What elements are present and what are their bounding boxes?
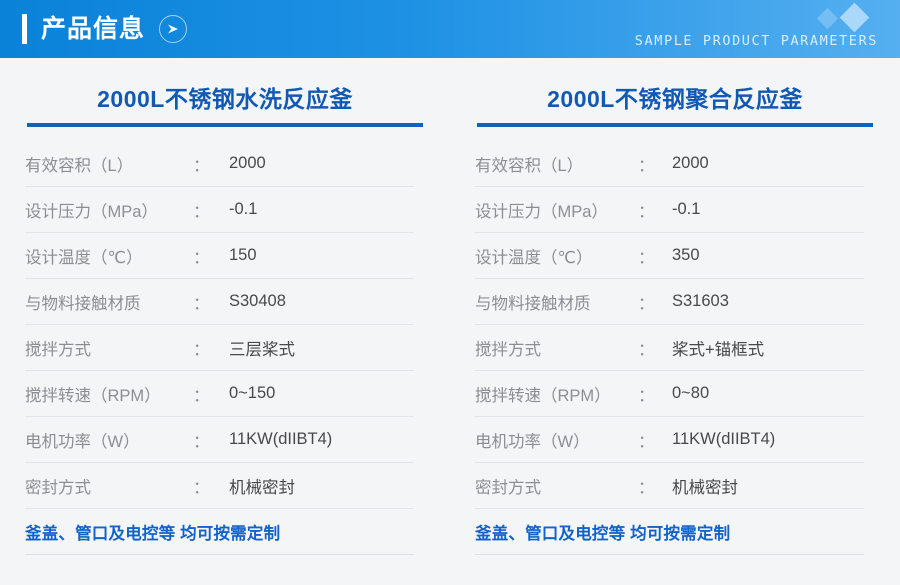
spec-colon: ： [638,382,654,406]
spec-label: 与物料接触材质 [25,290,193,314]
spec-label: 搅拌转速（RPM） [475,382,638,406]
page-header: 产品信息 SAMPLE PRODUCT PARAMETERS [0,0,900,58]
spec-value: -0.1 [654,200,864,219]
spec-value: 150 [209,246,414,265]
header-accent-bar [22,14,27,44]
spec-value: 350 [654,246,864,265]
customization-note: 釜盖、管口及电控等 均可按需定制 [25,520,280,544]
spec-label: 密封方式 [475,474,638,498]
spec-value: 桨式+锚框式 [654,336,864,360]
table-row: 设计压力（MPa） ： -0.1 [475,187,864,233]
table-row: 搅拌转速（RPM） ： 0~150 [25,371,414,417]
header-title-group: 产品信息 [22,0,187,58]
spec-value: 2000 [209,154,414,173]
spec-value: 三层桨式 [209,336,414,360]
spec-value: -0.1 [209,200,414,219]
table-row: 与物料接触材质 ： S31603 [475,279,864,325]
spec-colon: ： [193,244,209,268]
spec-label: 有效容积（L） [475,152,638,176]
table-row: 有效容积（L） ： 2000 [475,141,864,187]
customization-note-row-left: 釜盖、管口及电控等 均可按需定制 [25,509,414,555]
spec-colon: ： [638,474,654,498]
spec-panels-container: 2000L不锈钢水洗反应釜 有效容积（L） ： 2000 设计压力（MPa） ：… [0,58,900,585]
table-row: 搅拌转速（RPM） ： 0~80 [475,371,864,417]
spec-label: 搅拌方式 [25,336,193,360]
diamond-large-icon [840,3,870,33]
spec-table-left: 有效容积（L） ： 2000 设计压力（MPa） ： -0.1 设计温度（℃） … [25,141,414,555]
table-row: 电机功率（W） ： 11KW(dIIBT4) [25,417,414,463]
spec-colon: ： [193,336,209,360]
spec-table-right: 有效容积（L） ： 2000 设计压力（MPa） ： -0.1 设计温度（℃） … [475,141,864,555]
table-row: 搅拌方式 ： 三层桨式 [25,325,414,371]
spec-label: 搅拌方式 [475,336,638,360]
spec-value: 2000 [654,154,864,173]
spec-value: 0~150 [209,384,414,403]
table-row: 与物料接触材质 ： S30408 [25,279,414,325]
spec-value: 11KW(dIIBT4) [209,430,414,449]
spec-colon: ： [193,290,209,314]
spec-colon: ： [193,474,209,498]
customization-note: 釜盖、管口及电控等 均可按需定制 [475,520,730,544]
spec-label: 设计压力（MPa） [25,198,193,222]
spec-label: 搅拌转速（RPM） [25,382,193,406]
spec-colon: ： [638,290,654,314]
spec-colon: ： [638,244,654,268]
spec-colon: ： [638,336,654,360]
spec-colon: ： [193,198,209,222]
spec-label: 与物料接触材质 [475,290,638,314]
spec-panel-right: 2000L不锈钢聚合反应釜 有效容积（L） ： 2000 设计压力（MPa） ：… [450,58,900,585]
panel-title-right: 2000L不锈钢聚合反应釜 [475,88,875,123]
spec-colon: ： [638,152,654,176]
spec-value: S30408 [209,292,414,311]
spec-colon: ： [193,382,209,406]
spec-label: 电机功率（W） [475,428,638,452]
spec-label: 设计温度（℃） [25,244,193,268]
spec-label: 有效容积（L） [25,152,193,176]
panel-title-underline-left [27,123,423,127]
spec-value: 机械密封 [654,474,864,498]
spec-value: S31603 [654,292,864,311]
table-row: 密封方式 ： 机械密封 [475,463,864,509]
table-row: 设计温度（℃） ： 350 [475,233,864,279]
table-row: 设计压力（MPa） ： -0.1 [25,187,414,233]
diamond-small-icon [817,8,838,29]
table-row: 搅拌方式 ： 桨式+锚框式 [475,325,864,371]
spec-value: 11KW(dIIBT4) [654,430,864,449]
spec-colon: ： [193,152,209,176]
spec-label: 设计温度（℃） [475,244,638,268]
spec-label: 电机功率（W） [25,428,193,452]
panel-title-underline-right [477,123,873,127]
customization-note-row-right: 釜盖、管口及电控等 均可按需定制 [475,509,864,555]
spec-colon: ： [193,428,209,452]
spec-value: 0~80 [654,384,864,403]
spec-value: 机械密封 [209,474,414,498]
table-row: 设计温度（℃） ： 150 [25,233,414,279]
panel-title-left: 2000L不锈钢水洗反应釜 [25,88,425,123]
table-row: 电机功率（W） ： 11KW(dIIBT4) [475,417,864,463]
play-arrow-circle-icon[interactable] [159,15,187,43]
table-row: 密封方式 ： 机械密封 [25,463,414,509]
spec-label: 设计压力（MPa） [475,198,638,222]
table-row: 有效容积（L） ： 2000 [25,141,414,187]
spec-panel-left: 2000L不锈钢水洗反应釜 有效容积（L） ： 2000 设计压力（MPa） ：… [0,58,450,585]
header-subtitle: SAMPLE PRODUCT PARAMETERS [635,33,878,49]
diamond-decoration-icon [814,6,878,30]
spec-colon: ： [638,198,654,222]
spec-colon: ： [638,428,654,452]
page-title: 产品信息 [41,17,145,42]
spec-label: 密封方式 [25,474,193,498]
